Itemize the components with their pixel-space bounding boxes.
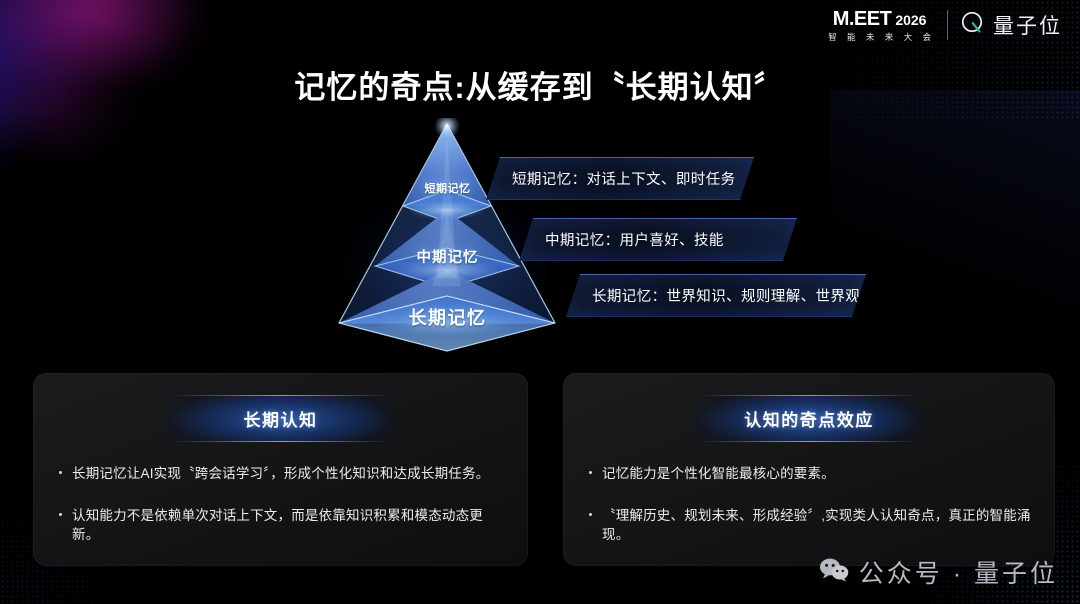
bullet-dot-icon: [59, 513, 62, 516]
bullet-dot-icon: [589, 513, 592, 516]
card-bullet-list-right: 记忆能力是个性化智能最核心的要素。 〝理解历史、规划未来、形成经验〞,实现类人认…: [563, 464, 1055, 545]
background-glow-purple-secondary: [0, 30, 220, 230]
callout-short-term: 短期记忆：对话上下文、即时任务: [486, 157, 754, 200]
bullet-dot-icon: [589, 471, 592, 474]
meet-logo: M.EET 2026 智 能 未 来 大 会: [824, 9, 935, 42]
list-item: 〝理解历史、规划未来、形成经验〞,实现类人认知奇点，真正的智能涌现。: [589, 506, 1031, 545]
meet-logo-word: M.EET: [833, 9, 892, 29]
brand-header: M.EET 2026 智 能 未 来 大 会 量子位: [824, 9, 1062, 42]
brand-divider: [947, 10, 948, 40]
watermark: 公众号 · 量子位: [819, 554, 1058, 590]
list-item-text: 长期记忆让AI实现〝跨会话学习〞，形成个性化知识和达成长期任务。: [72, 464, 489, 484]
page-title: 记忆的奇点:从缓存到〝长期认知〞: [0, 62, 1080, 107]
watermark-text: 公众号 · 量子位: [859, 554, 1058, 590]
wechat-icon: [819, 557, 849, 588]
card-long-term-cognition: 长期认知 长期记忆让AI实现〝跨会话学习〞，形成个性化知识和达成长期任务。 认知…: [33, 373, 528, 566]
background-sheen-right: [830, 90, 1080, 420]
list-item-text: 〝理解历史、规划未来、形成经验〞,实现类人认知奇点，真正的智能涌现。: [602, 506, 1031, 545]
card-cognition-singularity-effect: 认知的奇点效应 记忆能力是个性化智能最核心的要素。 〝理解历史、规划未来、形成经…: [563, 373, 1055, 566]
list-item-text: 认知能力不是依赖单次对话上下文，而是依靠知识积累和模态动态更新。: [72, 506, 504, 545]
callout-long-term: 长期记忆：世界知识、规则理解、世界观: [566, 274, 866, 317]
q-circle-icon: [960, 10, 986, 41]
list-item: 长期记忆让AI实现〝跨会话学习〞，形成个性化知识和达成长期任务。: [59, 464, 504, 484]
meet-logo-row: M.EET 2026: [824, 9, 935, 29]
bullet-dot-icon: [59, 471, 62, 474]
callout-short-term-text: 短期记忆：对话上下文、即时任务: [486, 168, 736, 189]
callout-long-term-text: 长期记忆：世界知识、规则理解、世界观: [566, 285, 860, 306]
qbit-logo: 量子位: [960, 10, 1062, 41]
callout-mid-term: 中期记忆：用户喜好、技能: [519, 218, 797, 261]
qbit-logo-text: 量子位: [993, 10, 1062, 40]
card-header-title-right: 认知的奇点效应: [744, 406, 874, 431]
card-header-band-right: 认知的奇点效应: [695, 395, 923, 442]
card-header-title-left: 长期认知: [244, 406, 318, 431]
list-item: 认知能力不是依赖单次对话上下文，而是依靠知识积累和模态动态更新。: [59, 506, 504, 545]
card-bullet-list-left: 长期记忆让AI实现〝跨会话学习〞，形成个性化知识和达成长期任务。 认知能力不是依…: [33, 464, 528, 545]
callout-mid-term-text: 中期记忆：用户喜好、技能: [519, 229, 724, 250]
meet-logo-year: 2026: [895, 13, 926, 27]
list-item-text: 记忆能力是个性化智能最核心的要素。: [602, 464, 835, 484]
card-header-band-left: 长期认知: [167, 395, 395, 442]
list-item: 记忆能力是个性化智能最核心的要素。: [589, 464, 1031, 484]
meet-logo-subtitle: 智 能 未 来 大 会: [824, 33, 935, 42]
slide-root: M.EET 2026 智 能 未 来 大 会 量子位 记忆的奇点:从缓存到〝长期…: [0, 0, 1080, 604]
